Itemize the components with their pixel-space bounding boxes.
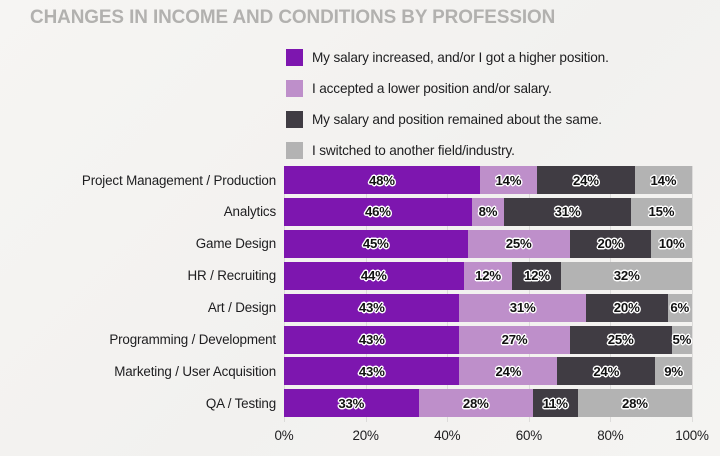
bar-segment[interactable]: 43% [284, 357, 459, 385]
category-axis-labels: Project Management / ProductionAnalytics… [0, 166, 276, 422]
bar-segment[interactable]: 28% [578, 389, 692, 417]
bar-value-label: 48% [369, 173, 395, 188]
bar-value-label: 5% [672, 332, 691, 347]
bar-value-label: 43% [359, 300, 385, 315]
bar-value-label: 24% [495, 364, 521, 379]
bar-segment[interactable]: 45% [284, 230, 468, 258]
bar-value-label: 10% [659, 236, 685, 251]
x-tick-label: 80% [597, 428, 623, 443]
bar-segment[interactable]: 31% [504, 198, 630, 226]
bar-value-label: 27% [502, 332, 528, 347]
bar-segment[interactable]: 28% [419, 389, 533, 417]
bar-segment[interactable]: 44% [284, 262, 464, 290]
x-tick-label: 0% [275, 428, 294, 443]
legend-item[interactable]: My salary and position remained about th… [286, 104, 706, 135]
bar-segment[interactable]: 6% [668, 294, 692, 322]
legend-item[interactable]: I accepted a lower position and/or salar… [286, 73, 706, 104]
bar-value-label: 44% [361, 268, 387, 283]
bar-segment[interactable]: 14% [480, 166, 537, 194]
legend-item[interactable]: My salary increased, and/or I got a high… [286, 42, 706, 73]
bar-value-label: 46% [365, 204, 391, 219]
category-label: Art / Design [0, 294, 276, 322]
category-label: Marketing / User Acquisition [0, 357, 276, 385]
x-axis: 0%20%40%60%80%100% [284, 428, 692, 450]
bar-segment[interactable]: 8% [472, 198, 505, 226]
x-tick-label: 20% [352, 428, 378, 443]
bar-value-label: 32% [614, 268, 640, 283]
bar-value-label: 11% [543, 396, 568, 411]
bar-value-label: 24% [573, 173, 599, 188]
legend-swatch-icon [286, 142, 303, 159]
bar-segment[interactable]: 46% [284, 198, 472, 226]
bar-row: 45%25%20%10% [284, 230, 692, 258]
legend-item-label: I accepted a lower position and/or salar… [312, 81, 552, 96]
bar-value-label: 31% [510, 300, 536, 315]
bar-segment[interactable]: 24% [537, 166, 635, 194]
bar-value-label: 43% [359, 364, 385, 379]
bar-segment[interactable]: 25% [468, 230, 570, 258]
x-tick-label: 60% [516, 428, 542, 443]
bar-rows: 48%14%24%14%46%8%31%15%45%25%20%10%44%12… [284, 166, 692, 422]
bar-value-label: 12% [524, 268, 550, 283]
bar-segment[interactable]: 20% [586, 294, 668, 322]
legend-swatch-icon [286, 111, 303, 128]
bar-segment[interactable]: 12% [464, 262, 513, 290]
category-label: Game Design [0, 230, 276, 258]
bar-value-label: 25% [608, 332, 634, 347]
category-label: Analytics [0, 198, 276, 226]
bar-row: 43%31%20%6% [284, 294, 692, 322]
bar-segment[interactable]: 24% [557, 357, 655, 385]
bar-segment[interactable]: 31% [459, 294, 585, 322]
bar-value-label: 8% [479, 204, 498, 219]
bar-segment[interactable]: 9% [655, 357, 692, 385]
bar-row: 33%28%11%28% [284, 389, 692, 417]
category-label: HR / Recruiting [0, 262, 276, 290]
bar-value-label: 20% [597, 236, 623, 251]
legend-swatch-icon [286, 80, 303, 97]
category-label: Project Management / Production [0, 166, 276, 194]
bar-segment[interactable]: 10% [651, 230, 692, 258]
bar-value-label: 20% [614, 300, 640, 315]
bar-segment[interactable]: 20% [570, 230, 652, 258]
chart-title: CHANGES IN INCOME AND CONDITIONS BY PROF… [30, 6, 555, 29]
bar-segment[interactable]: 15% [631, 198, 692, 226]
bar-value-label: 9% [664, 364, 683, 379]
bar-value-label: 25% [506, 236, 532, 251]
bar-segment[interactable]: 33% [284, 389, 419, 417]
legend-item-label: My salary and position remained about th… [312, 112, 602, 127]
bar-value-label: 24% [593, 364, 619, 379]
chart-legend: My salary increased, and/or I got a high… [286, 42, 706, 166]
bar-row: 44%12%12%32% [284, 262, 692, 290]
bar-segment[interactable]: 25% [570, 326, 672, 354]
legend-item[interactable]: I switched to another field/industry. [286, 135, 706, 166]
bar-segment[interactable]: 48% [284, 166, 480, 194]
legend-item-label: My salary increased, and/or I got a high… [312, 50, 609, 65]
bar-value-label: 14% [495, 173, 521, 188]
plot-area: 48%14%24%14%46%8%31%15%45%25%20%10%44%12… [284, 166, 692, 422]
bar-value-label: 33% [338, 396, 364, 411]
bar-segment[interactable]: 32% [561, 262, 692, 290]
bar-value-label: 15% [648, 204, 674, 219]
bar-segment[interactable]: 43% [284, 294, 459, 322]
bar-row: 48%14%24%14% [284, 166, 692, 194]
bar-value-label: 45% [363, 236, 389, 251]
bar-segment[interactable]: 24% [459, 357, 557, 385]
bar-value-label: 6% [670, 300, 689, 315]
bar-segment[interactable]: 11% [533, 389, 578, 417]
chart-container: CHANGES IN INCOME AND CONDITIONS BY PROF… [0, 0, 720, 456]
legend-swatch-icon [286, 49, 303, 66]
bar-row: 46%8%31%15% [284, 198, 692, 226]
bar-value-label: 31% [555, 204, 581, 219]
bar-segment[interactable]: 27% [459, 326, 569, 354]
bar-value-label: 43% [359, 332, 385, 347]
bar-segment[interactable]: 12% [512, 262, 561, 290]
bar-segment[interactable]: 14% [635, 166, 692, 194]
bar-segment[interactable]: 5% [672, 326, 692, 354]
bar-value-label: 14% [651, 173, 677, 188]
x-tick-label: 100% [675, 428, 708, 443]
bar-value-label: 12% [475, 268, 501, 283]
bar-value-label: 28% [622, 396, 648, 411]
category-label: Programming / Development [0, 326, 276, 354]
category-label: QA / Testing [0, 389, 276, 417]
bar-segment[interactable]: 43% [284, 326, 459, 354]
bar-value-label: 28% [463, 396, 489, 411]
bar-row: 43%24%24%9% [284, 357, 692, 385]
legend-item-label: I switched to another field/industry. [312, 143, 515, 158]
bar-row: 43%27%25%5% [284, 326, 692, 354]
gridline [692, 166, 693, 422]
x-tick-label: 40% [434, 428, 460, 443]
